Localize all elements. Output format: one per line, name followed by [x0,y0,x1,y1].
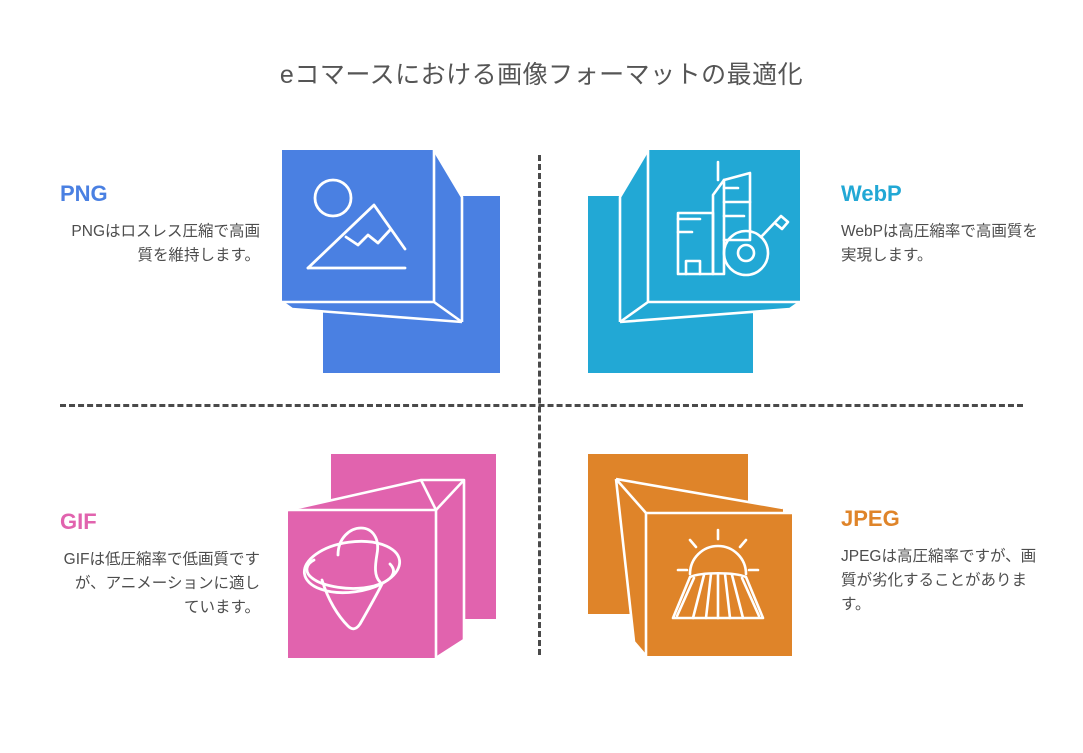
page-title: eコマースにおける画像フォーマットの最適化 [0,55,1083,91]
format-label-gif: GIF [60,510,260,534]
quadrant-text-gif: GIF GIFは低圧縮率で低画質ですが、アニメーションに適しています。 [60,510,260,620]
png-front-face [282,150,434,302]
illustration-gif [276,450,516,680]
jpeg-illustration-svg [578,446,818,681]
gif-illustration-svg [276,450,516,680]
format-description-png: PNGはロスレス圧縮で高画質を維持します。 [60,220,260,268]
format-description-gif: GIFは低圧縮率で低画質ですが、アニメーションに適しています。 [60,548,260,620]
format-label-jpeg: JPEG [841,507,1041,531]
format-label-webp: WebP [841,182,1041,206]
png-illustration-svg [278,140,510,375]
illustration-webp [578,140,810,375]
quadrant-text-webp: WebP WebPは高圧縮率で高画質を実現します。 [841,182,1041,268]
divider-horizontal [60,404,1023,407]
webp-illustration-svg [578,140,810,375]
quadrant-text-jpeg: JPEG JPEGは高圧縮率ですが、画質が劣化することがあります。 [841,507,1041,617]
quadrant-text-png: PNG PNGはロスレス圧縮で高画質を維持します。 [60,182,260,268]
illustration-png [278,140,510,375]
divider-vertical [538,155,541,655]
format-description-jpeg: JPEGは高圧縮率ですが、画質が劣化することがあります。 [841,545,1041,617]
format-label-png: PNG [60,182,260,206]
format-description-webp: WebPは高圧縮率で高画質を実現します。 [841,220,1041,268]
illustration-jpeg [578,446,818,681]
